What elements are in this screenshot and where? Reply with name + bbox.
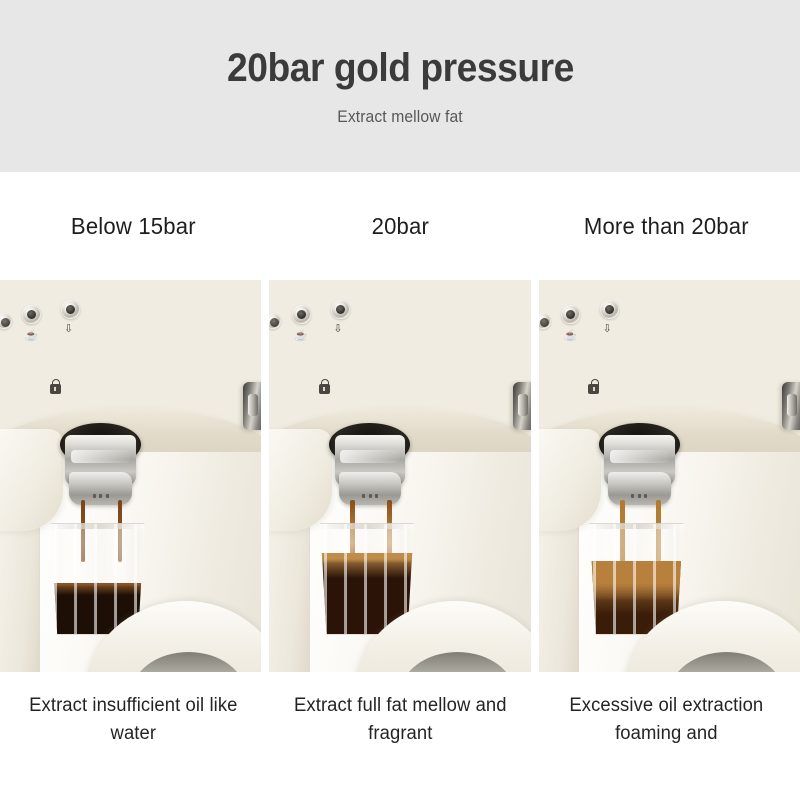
- portafilter-vent: [375, 494, 378, 498]
- caption-more-than-20bar: Excessive oil extraction foaming and: [537, 680, 796, 800]
- machine-left-wing: [269, 429, 332, 531]
- caption-below-15bar: Extract insufficient oil like water: [4, 680, 263, 800]
- column-label-20bar: 20bar: [272, 172, 528, 280]
- photo-row: ☕ ⇩: [0, 280, 800, 672]
- steam-icon: ⇩: [333, 324, 342, 335]
- page-title: 20bar gold pressure: [227, 48, 574, 88]
- steam-icon: ⇩: [64, 324, 73, 335]
- machine-left-wing: [539, 429, 602, 531]
- portafilter-spout-base: [608, 472, 671, 505]
- lock-icon: [50, 384, 61, 394]
- cup-icon: ☕: [563, 331, 577, 342]
- cup-icon: ☕: [25, 331, 39, 342]
- portafilter-vent: [631, 494, 634, 498]
- control-button-two: [61, 300, 80, 319]
- chrome-knob-icon: [513, 382, 531, 430]
- cup-rim: [45, 524, 150, 529]
- crema-layer: [584, 561, 689, 601]
- steam-icon: ⇩: [603, 324, 612, 335]
- portafilter-vent: [99, 494, 102, 498]
- portafilter-vent: [106, 494, 109, 498]
- column-label-row: Below 15bar 20bar More than 20bar: [0, 172, 800, 280]
- crema-layer: [315, 553, 420, 564]
- portafilter-vent: [638, 494, 641, 498]
- lock-icon: [588, 384, 599, 394]
- caption-20bar: Extract full fat mellow and fragrant: [271, 680, 530, 800]
- promo-page: 20bar gold pressure Extract mellow fat B…: [0, 0, 800, 800]
- portafilter-spout-base: [69, 472, 132, 505]
- control-button-two: [331, 300, 350, 319]
- control-button-one: [292, 305, 311, 324]
- caption-row: Extract insufficient oil like water Extr…: [0, 680, 800, 800]
- cup-icon: ☕: [294, 331, 308, 342]
- crema-layer: [45, 583, 150, 586]
- cup-rim: [584, 524, 689, 529]
- control-button-two: [600, 300, 619, 319]
- portafilter-vent: [93, 494, 96, 498]
- photo-more-than-20bar: ☕ ⇩: [539, 280, 800, 672]
- lock-icon: [319, 384, 330, 394]
- header-banner: 20bar gold pressure Extract mellow fat: [0, 0, 800, 172]
- portafilter-vent: [362, 494, 365, 498]
- column-label-below-15bar: Below 15bar: [5, 172, 261, 280]
- chrome-knob-icon: [782, 382, 800, 430]
- machine-left-wing: [0, 429, 63, 531]
- page-subtitle: Extract mellow fat: [337, 108, 462, 127]
- portafilter-vent: [369, 494, 372, 498]
- cup-rim: [315, 524, 420, 529]
- chrome-knob-icon: [243, 382, 261, 430]
- photo-below-15bar: ☕ ⇩: [0, 280, 261, 672]
- photo-20bar: ☕ ⇩: [269, 280, 530, 672]
- column-label-more-than-20bar: More than 20bar: [539, 172, 795, 280]
